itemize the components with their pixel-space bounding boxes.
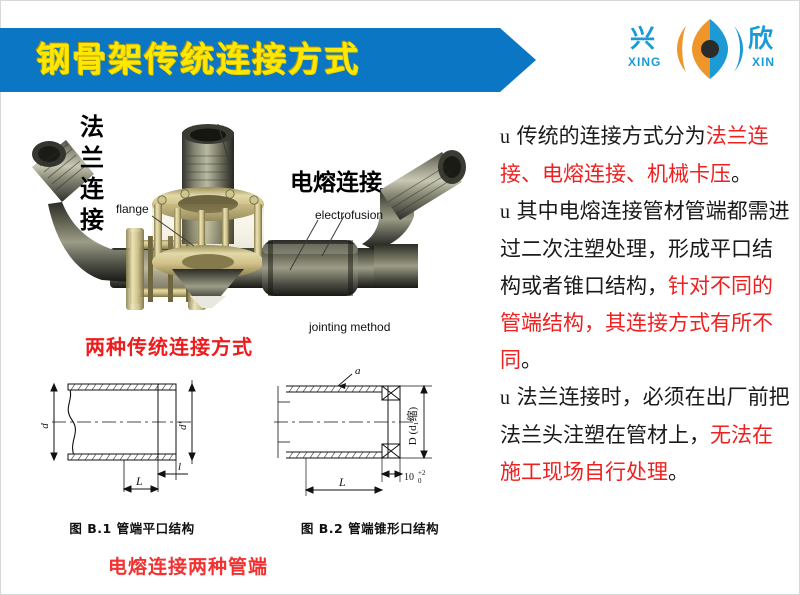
dim-label-10-tol: 10 — [404, 472, 414, 483]
dim-label-d: d — [39, 423, 51, 429]
dim-label-d-prime: d' — [177, 421, 189, 430]
dim-label-tol-lower: 0 — [418, 477, 422, 485]
body-paragraph: u 法兰连接时，必须在出厂前把法兰头注塑在管材上，无法在施工现场自行处理。 — [500, 379, 792, 491]
banner-arrow-head-icon — [500, 28, 536, 92]
dim-label-L2: L — [338, 475, 346, 489]
company-logo: 兴 XING 欣 XIN — [628, 14, 793, 86]
label-jointing-method-en: jointing method — [309, 320, 390, 334]
figure-b1: d d' l L 图 B.1 管端平口结构 — [18, 362, 246, 537]
body-paragraph: u 其中电熔连接管材管端都需进过二次注塑处理，形成平口结构或者锥口结构，针对不同… — [500, 193, 792, 379]
figure-b2-caption: 图 B.2 管端锥形口结构 — [256, 518, 484, 537]
dim-label-a: a — [355, 365, 361, 377]
body-text-column: u 传统的连接方式分为法兰连接、电熔连接、机械卡压。u 其中电熔连接管材管端都需… — [500, 118, 792, 491]
figure-b2-drawing: a D (d₁缩) 10 +2 0 L — [256, 362, 484, 512]
figure-b1-drawing: d d' l L — [18, 362, 246, 512]
title-banner: 钢骨架传统连接方式 — [0, 28, 500, 92]
label-flange-cn: 法兰连接 — [77, 112, 107, 236]
photo-caption: 两种传统连接方式 — [85, 331, 253, 360]
slide-root: 钢骨架传统连接方式 兴 XING 欣 XIN — [0, 0, 800, 595]
body-paragraph: u 传统的连接方式分为法兰连接、电熔连接、机械卡压。 — [500, 118, 792, 193]
text-run: 。 — [731, 162, 752, 186]
logo-left-pinyin: XING — [628, 55, 661, 69]
dim-label-D: D (d₁缩) — [406, 406, 419, 445]
label-electrofusion-cn: 电熔连接 — [290, 163, 382, 197]
pipe-fitting-photo: 法兰连接 flange 电熔连接 electrofusion jointing … — [22, 104, 477, 339]
dim-label-tol-upper: +2 — [418, 469, 426, 477]
slide-border-top — [0, 0, 800, 1]
figure-b1-caption: 图 B.1 管端平口结构 — [18, 518, 246, 537]
dim-label-l: l — [178, 461, 181, 473]
paragraph-bullet: u — [500, 387, 510, 409]
text-run: 传统的连接方式分为 — [510, 124, 706, 148]
text-run: 。 — [521, 348, 542, 372]
page-title: 钢骨架传统连接方式 — [36, 34, 360, 86]
drawings-caption: 电熔连接两种管端 — [108, 552, 268, 579]
lens-emblem-icon — [672, 16, 748, 82]
text-run: 。 — [668, 460, 689, 484]
figure-b2: a D (d₁缩) 10 +2 0 L 图 B.2 管端锥形口结构 — [256, 362, 484, 537]
logo-right-char: 欣 — [748, 26, 773, 51]
logo-left-char: 兴 — [630, 26, 655, 51]
logo-right-pinyin: XIN — [752, 55, 775, 69]
paragraph-bullet: u — [500, 126, 510, 148]
paragraph-bullet: u — [500, 201, 510, 223]
dim-label-L: L — [135, 474, 143, 488]
label-electrofusion-en: electrofusion — [315, 208, 383, 222]
engineering-drawings: d d' l L 图 B.1 管端平口结构 — [18, 362, 486, 537]
label-flange-en: flange — [116, 202, 149, 216]
